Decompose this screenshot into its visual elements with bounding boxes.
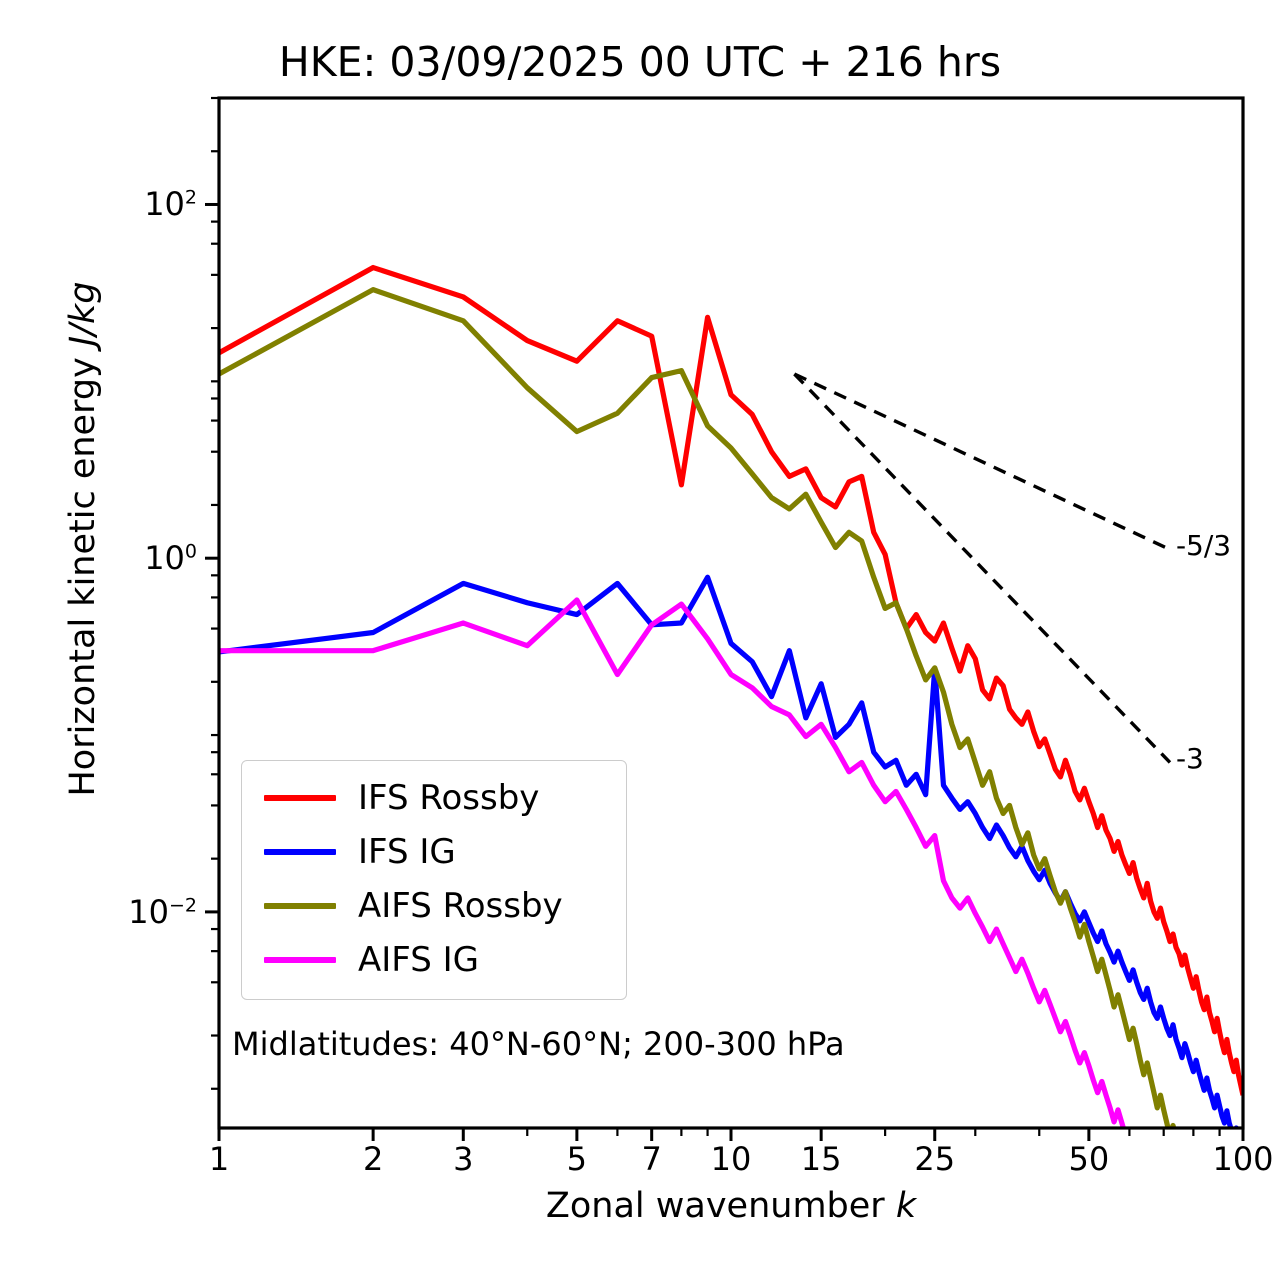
legend-swatch-icon: [264, 849, 336, 855]
legend-swatch-icon: [264, 903, 336, 909]
y-tick-label-0: 100: [144, 539, 197, 577]
reference-line-layer: [794, 374, 1170, 762]
legend-item-aifs-ig[interactable]: AIFS IG: [242, 933, 626, 987]
x-tick-label-5: 5: [567, 1140, 587, 1178]
figure-canvas: HKE: 03/09/2025 00 UTC + 216 hrs Horizon…: [0, 0, 1280, 1288]
legend-label: AIFS Rossby: [358, 886, 563, 926]
x-tick-label-1: 1: [209, 1140, 229, 1178]
x-tick-label-2: 2: [363, 1140, 383, 1178]
legend: IFS RossbyIFS IGAIFS RossbyAIFS IG: [241, 760, 627, 1000]
x-tick-label-7: 7: [642, 1140, 662, 1178]
series-line-aifs-rossby: [219, 290, 1217, 1221]
legend-label: IFS IG: [358, 832, 456, 872]
y-tick-label-2: 102: [144, 185, 197, 223]
x-tick-label-3: 3: [453, 1140, 473, 1178]
legend-label: AIFS IG: [358, 940, 479, 980]
legend-item-aifs-rossby[interactable]: AIFS Rossby: [242, 879, 626, 933]
x-tick-label-15: 15: [801, 1140, 842, 1178]
x-tick-label-100: 100: [1212, 1140, 1273, 1178]
slope-label-53: -5/3: [1176, 529, 1231, 562]
reference-line-53: [794, 374, 1170, 549]
legend-item-ifs-rossby[interactable]: IFS Rossby: [242, 771, 626, 825]
reference-line-3: [794, 374, 1170, 762]
y-tick-label-−2: 10−2: [128, 893, 197, 931]
region-annotation: Midlatitudes: 40°N-60°N; 200-300 hPa: [232, 1025, 845, 1063]
legend-item-ifs-ig[interactable]: IFS IG: [242, 825, 626, 879]
legend-swatch-icon: [264, 957, 336, 963]
x-tick-label-10: 10: [711, 1140, 752, 1178]
x-tick-label-25: 25: [914, 1140, 955, 1178]
slope-label-3: -3: [1176, 742, 1204, 775]
x-tick-label-50: 50: [1069, 1140, 1110, 1178]
legend-label: IFS Rossby: [358, 778, 539, 818]
legend-swatch-icon: [264, 795, 336, 801]
